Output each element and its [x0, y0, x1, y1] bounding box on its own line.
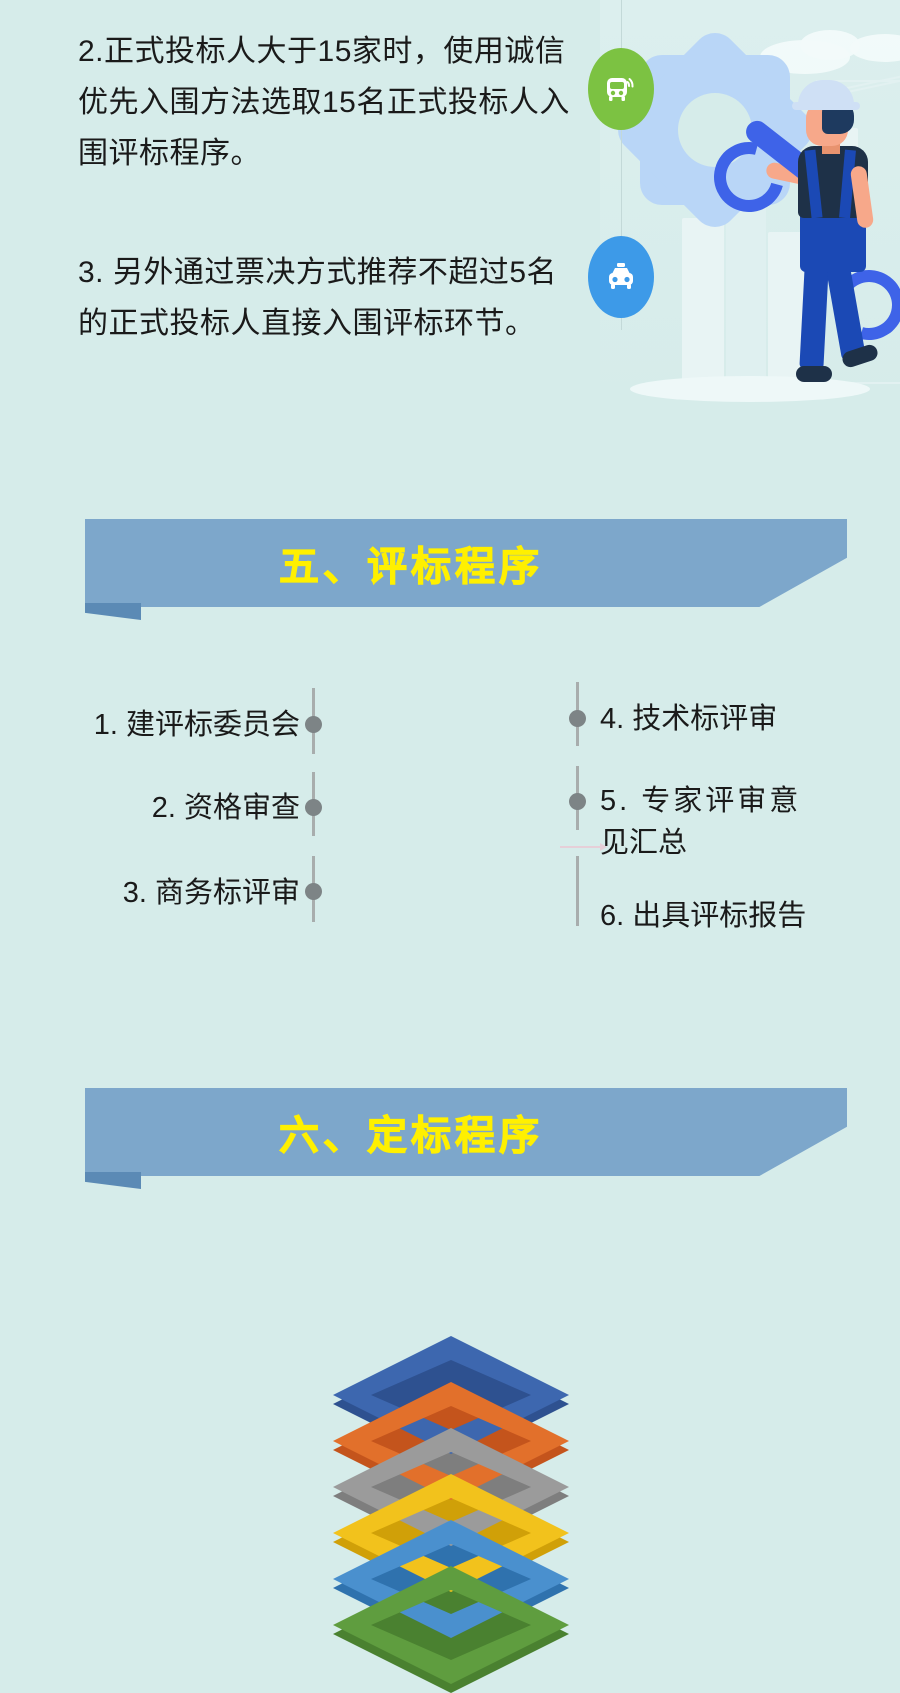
- badge-bus: [588, 48, 654, 130]
- infographic-page: 2.正式投标人大于15家时，使用诚信优先入围方法选取15名正式投标人入围评标程序…: [0, 0, 900, 1229]
- connector-line: [576, 856, 579, 926]
- connector-dot: [569, 710, 586, 727]
- badge-taxi: [588, 236, 654, 318]
- taxi-icon: [604, 262, 638, 292]
- building-shape: [682, 218, 724, 388]
- connector-dot: [305, 799, 322, 816]
- evaluation-process-list: 1. 建评标委员会 2. 资格审查 3. 商务标评审 4. 技术标评审 5. 专…: [0, 660, 900, 990]
- process-item-6: 6. 出具评标报告: [600, 895, 860, 937]
- section-banner-five: 五、评标程序: [85, 519, 847, 619]
- section-banner-six: 六、定标程序: [85, 1088, 847, 1188]
- process-item-4: 4. 技术标评审: [600, 698, 860, 740]
- connector-dot: [305, 716, 322, 733]
- pink-pointer-line: [560, 846, 602, 848]
- pink-pointer-arrow: [600, 843, 607, 851]
- worker-figure: [750, 80, 880, 400]
- banner-title-five: 五、评标程序: [85, 519, 847, 607]
- connector-dot: [569, 793, 586, 810]
- banner-title-six: 六、定标程序: [85, 1088, 847, 1176]
- clause-2-text: 2.正式投标人大于15家时，使用诚信优先入围方法选取15名正式投标人入围评标程序…: [78, 26, 583, 179]
- layered-diamond-graphic: [333, 1336, 569, 1628]
- clause-3-text: 3. 另外通过票决方式推荐不超过5名的正式投标人直接入围评标环节。: [78, 247, 583, 349]
- process-item-5-line2: 见汇总: [600, 822, 860, 864]
- process-item-2: 2. 资格审查: [70, 787, 300, 829]
- process-item-1: 1. 建评标委员会: [70, 704, 300, 746]
- process-item-3: 3. 商务标评审: [70, 872, 300, 914]
- connector-dot: [305, 883, 322, 900]
- stack-layer-6: [333, 1566, 569, 1684]
- bus-icon: [604, 73, 638, 105]
- process-item-5: 5. 专家评审意: [600, 780, 860, 822]
